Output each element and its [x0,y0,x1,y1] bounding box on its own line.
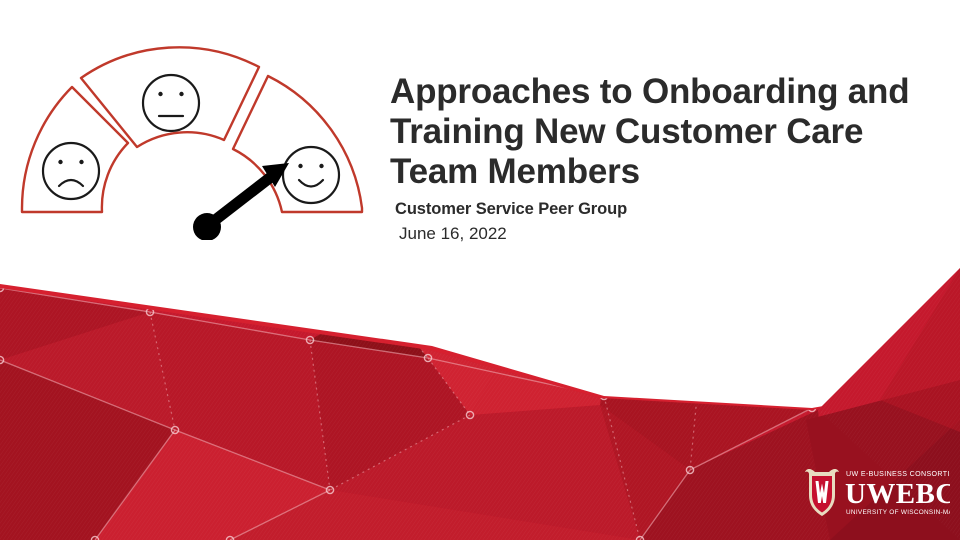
neutral-face-icon [143,75,199,131]
logo-tagline-bottom: UNIVERSITY OF WISCONSIN-MADISON [846,509,950,516]
logo-wordmark: UWEBC [845,478,950,510]
slide-subtitle: Customer Service Peer Group [395,200,946,219]
bg-edge-highlight [0,284,960,420]
frowning-face-icon [43,143,99,199]
gauge-segment-neutral [81,47,259,147]
uwebc-logo: UW E-BUSINESS CONSORTIUM UWEBC UNIVERSIT… [795,463,950,523]
smiling-face-icon [283,147,339,203]
presentation-slide: Approaches to Onboarding and Training Ne… [0,0,960,540]
title-text-block: Approaches to Onboarding and Training Ne… [390,72,946,244]
satisfaction-gauge-graphic [14,40,374,240]
uw-crest-icon [805,469,839,516]
page-title: Approaches to Onboarding and Training Ne… [390,72,946,192]
gauge-segment-sad [22,87,128,212]
gauge-needle [193,163,289,240]
slide-date: June 16, 2022 [399,224,946,244]
logo-tagline-top: UW E-BUSINESS CONSORTIUM [846,470,950,478]
